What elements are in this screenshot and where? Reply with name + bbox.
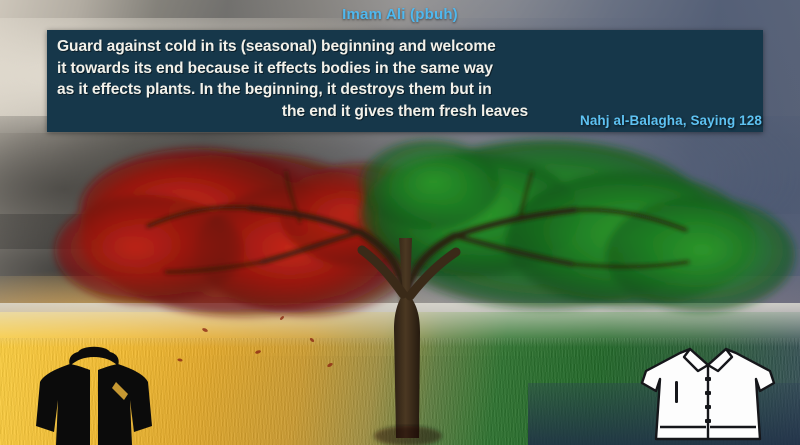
quote-line-3: as it effects plants. In the beginning, …	[57, 79, 753, 101]
trunk-base-shadow	[374, 426, 442, 445]
quote-line-2: it towards its end because it effects bo…	[57, 58, 753, 80]
speaker-attribution: Imam Ali (pbuh)	[0, 6, 800, 23]
shirt-pocket-seam	[675, 381, 678, 403]
canopy-summer	[360, 140, 795, 313]
source-citation: Nahj al-Balagha, Saying 128	[580, 113, 762, 128]
quote-graphic: Imam Ali (pbuh) Guard against cold in it…	[0, 0, 800, 445]
falling-leaves	[177, 315, 333, 368]
dress-shirt-icon	[638, 335, 778, 443]
quote-line-1: Guard against cold in its (seasonal) beg…	[57, 36, 753, 58]
winter-jacket-icon	[34, 340, 154, 445]
